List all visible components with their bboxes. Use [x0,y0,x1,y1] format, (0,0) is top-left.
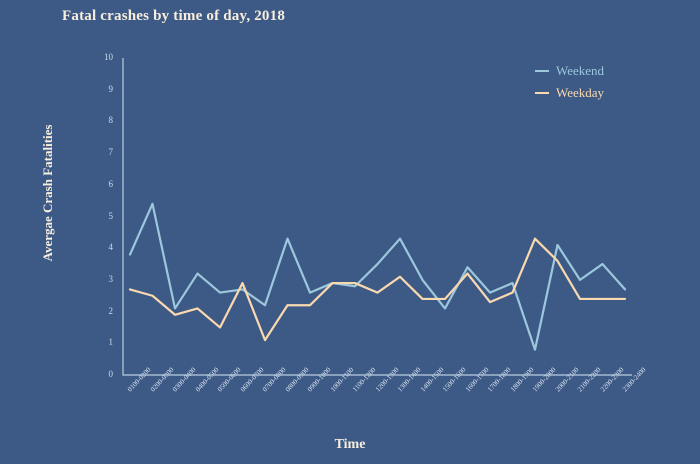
legend-label: Weekend [556,63,604,79]
legend-swatch-icon [535,70,549,72]
chart-legend: WeekendWeekday [535,60,604,104]
axis-lines [123,58,632,375]
legend-item[interactable]: Weekend [535,60,604,82]
legend-label: Weekday [556,85,604,101]
series-line-weekend [130,204,625,350]
legend-swatch-icon [535,92,549,94]
series-layer [130,204,625,350]
series-line-weekday [130,239,625,340]
chart-container: Fatal crashes by time of day, 2018 Averg… [0,0,700,464]
legend-item[interactable]: Weekday [535,82,604,104]
